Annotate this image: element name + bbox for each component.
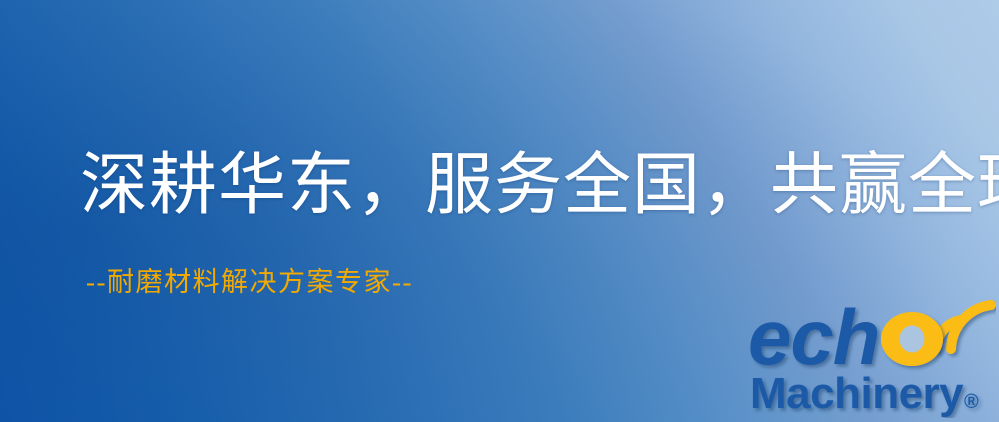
registered-trademark-icon: ® bbox=[964, 391, 979, 413]
logo-tagline: Machinery ® bbox=[750, 369, 979, 418]
banner-headline: 深耕华东，服务全国，共赢全球 bbox=[80, 150, 999, 221]
svg-text:Machinery: Machinery bbox=[750, 369, 964, 418]
banner-subtitle: --耐磨材料解决方案专家-- bbox=[86, 266, 413, 298]
logo-wordmark-echo: ech bbox=[748, 293, 943, 381]
promotional-banner: 深耕华东，服务全国，共赢全球 --耐磨材料解决方案专家-- ech bbox=[0, 0, 999, 422]
echo-machinery-logo[interactable]: ech Machinery ® bbox=[748, 292, 996, 418]
signal-arcs-icon bbox=[936, 305, 991, 349]
svg-text:ech: ech bbox=[748, 293, 879, 381]
logo-letter-o-gold bbox=[881, 312, 943, 366]
